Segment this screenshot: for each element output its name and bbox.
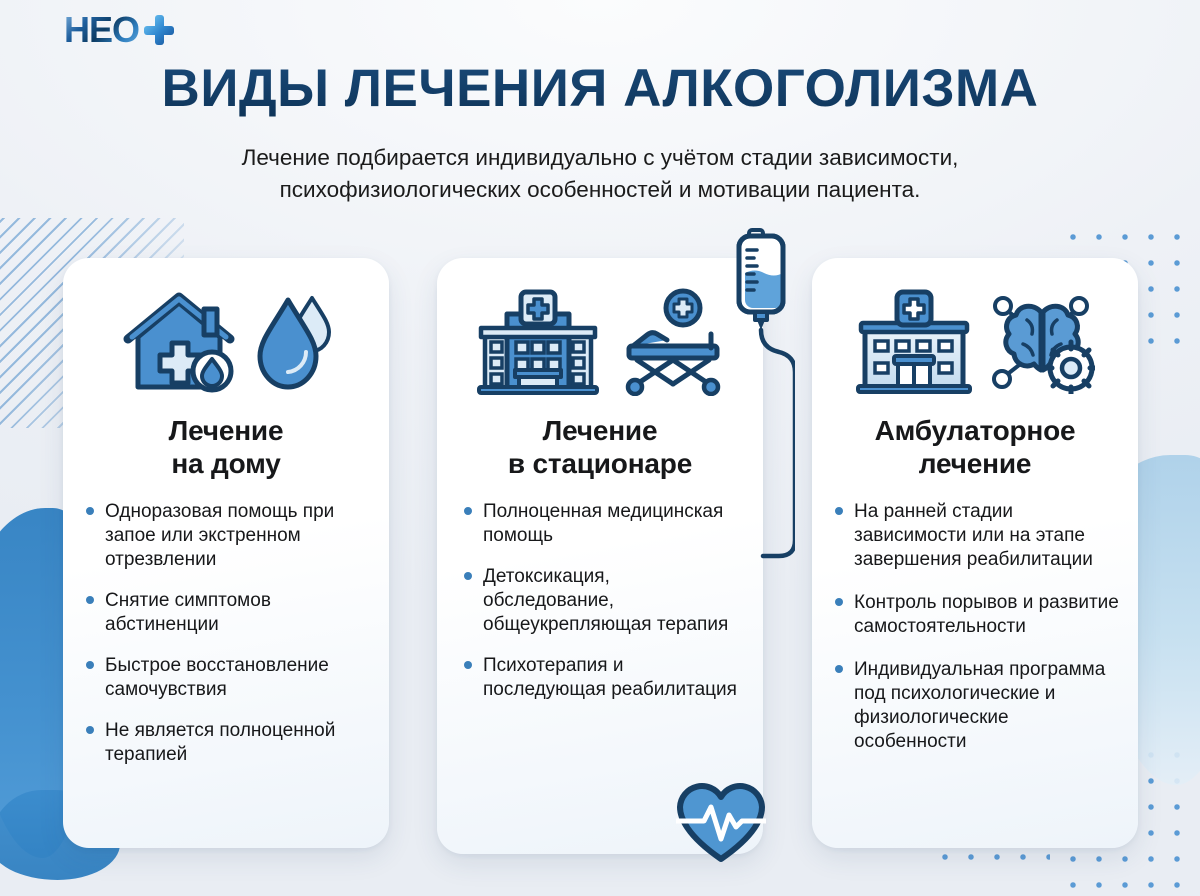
cards-row: Лечение на дому Одноразовая помощь при з…: [0, 0, 1200, 896]
card-2-title-line1: Лечение: [543, 415, 658, 446]
iv-drip-bag-icon: [735, 228, 795, 568]
list-item: Контроль порывов и развитие самостоятель…: [834, 591, 1120, 639]
card-1-icons: [63, 276, 389, 408]
card-1-bullet-list: Одноразовая помощь при запое или экстрен…: [63, 500, 389, 766]
card-inpatient-treatment[interactable]: Лечение в стационаре Полноценная медицин…: [437, 258, 763, 854]
card-outpatient-treatment[interactable]: Амбулаторное лечение На ранней стадии за…: [812, 258, 1138, 848]
hospital-building-icon: [477, 288, 599, 396]
list-item: Не является полноценной терапией: [85, 719, 371, 767]
card-home-treatment[interactable]: Лечение на дому Одноразовая помощь при з…: [63, 258, 389, 848]
card-3-title-line1: Амбулаторное: [875, 415, 1076, 446]
card-2-bullet-list: Полноценная медицинская помощь Детоксика…: [437, 500, 763, 702]
card-3-bullet-list: На ранней стадии зависимости или на этап…: [812, 500, 1138, 753]
list-item: Быстрое восстановление самочувствия: [85, 654, 371, 702]
infographic-canvas: НЕО ВИДЫ ЛЕЧЕНИЯ АЛКОГОЛИЗМА Лечение под…: [0, 0, 1200, 896]
hospital-bed-icon: [615, 288, 723, 396]
card-1-title-line2: на дому: [171, 448, 280, 479]
brain-gear-icon: [989, 290, 1095, 394]
card-2-icons: [437, 276, 763, 408]
card-3-title-line2: лечение: [919, 448, 1031, 479]
list-item: На ранней стадии зависимости или на этап…: [834, 500, 1120, 572]
house-medical-cross-icon: [120, 287, 238, 397]
clinic-building-icon: [855, 289, 973, 395]
card-3-title: Амбулаторное лечение: [812, 414, 1138, 480]
card-2-title-line2: в стационаре: [508, 448, 692, 479]
list-item: Психотерапия и последующая реабилитация: [463, 654, 745, 702]
card-1-title-line1: Лечение: [169, 415, 284, 446]
water-droplet-icon: [254, 290, 332, 394]
list-item: Детоксикация, обследование, общеукрепляю…: [463, 565, 745, 637]
heart-pulse-icon: [676, 781, 766, 865]
list-item: Одноразовая помощь при запое или экстрен…: [85, 500, 371, 572]
list-item: Индивидуальная программа под психологиче…: [834, 658, 1120, 754]
card-3-icons: [812, 276, 1138, 408]
list-item: Снятие симптомов абстиненции: [85, 589, 371, 637]
card-2-title: Лечение в стационаре: [437, 414, 763, 480]
list-item: Полноценная медицинская помощь: [463, 500, 745, 548]
card-1-title: Лечение на дому: [63, 414, 389, 480]
